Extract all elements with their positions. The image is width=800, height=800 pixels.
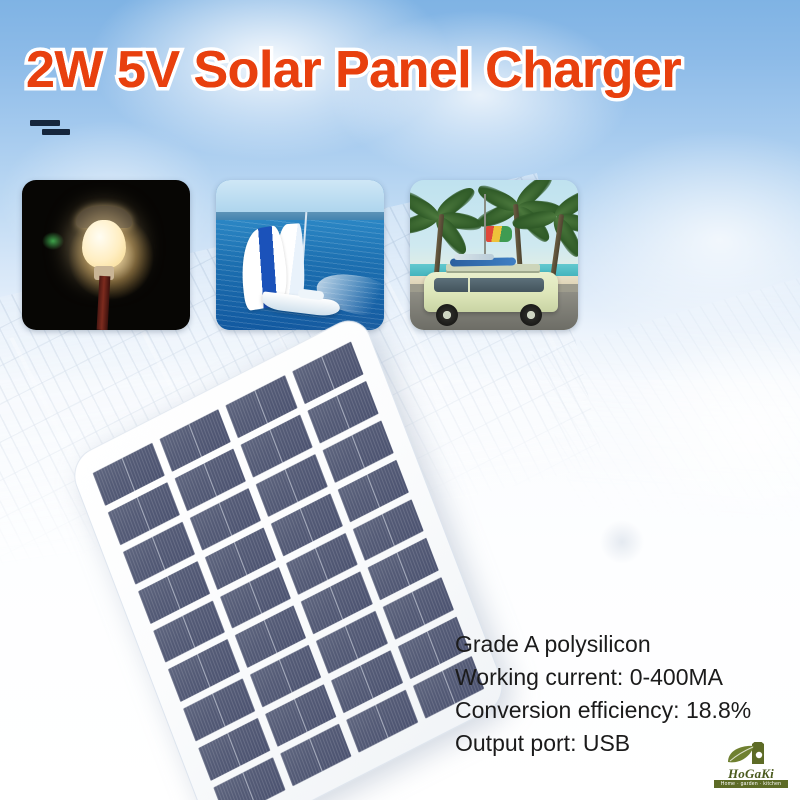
leaf-house-logo-icon (726, 742, 772, 768)
spec-current: Working current: 0-400MA (455, 661, 785, 694)
lamp-post (97, 276, 111, 330)
spec-grade: Grade A polysilicon (455, 628, 785, 661)
green-flare (42, 232, 64, 250)
brand-logo[interactable]: HoGaKi Home · garden · kitchen (714, 742, 788, 790)
thumb-night-lamp[interactable] (22, 180, 190, 330)
product-image-canvas: 2W 5V Solar Panel Charger 2W 5V Solar Pa… (0, 0, 800, 800)
product-specifications: Grade A polysilicon Working current: 0-4… (455, 628, 785, 760)
solar-cell-grid (93, 341, 485, 800)
brand-tagline: Home · garden · kitchen (714, 780, 788, 788)
spec-efficiency: Conversion efficiency: 18.8% (455, 694, 785, 727)
lamp-bulb-icon (82, 220, 126, 268)
night-scene (22, 180, 190, 330)
